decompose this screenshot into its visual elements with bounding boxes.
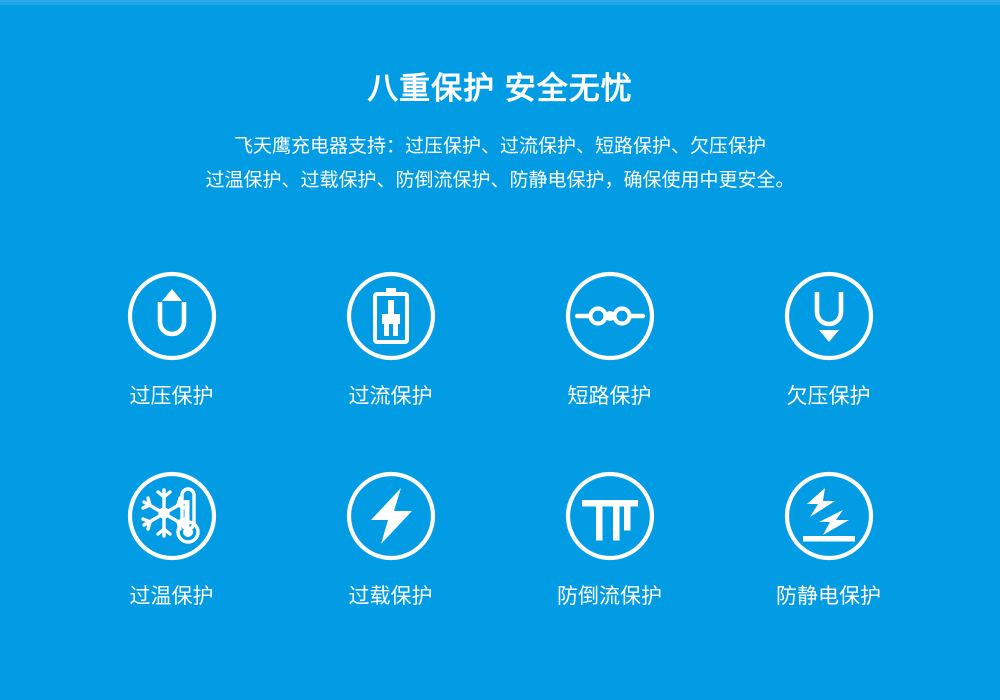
over-temperature-icon	[124, 468, 220, 564]
feature-label: 过载保护	[349, 584, 433, 610]
feature-item-over-temperature: 过温保护	[62, 468, 281, 668]
feature-label: 过流保护	[349, 384, 433, 410]
feature-label: 防倒流保护	[557, 584, 662, 610]
description-line-2: 过温保护、过载保护、防倒流保护、防静电保护，确保使用中更安全。	[0, 164, 1000, 198]
top-edge-highlight	[0, 0, 1000, 2]
feature-label: 过压保护	[130, 384, 214, 410]
feature-item-overload: 过载保护	[281, 468, 500, 668]
reverse-current-icon	[562, 468, 658, 564]
feature-label: 短路保护	[568, 384, 652, 410]
feature-item-overcurrent: 过流保护	[281, 268, 500, 468]
overvoltage-icon	[124, 268, 220, 364]
anti-static-icon	[781, 468, 877, 564]
short-circuit-icon	[562, 268, 658, 364]
feature-item-reverse-current: 防倒流保护	[500, 468, 719, 668]
protection-features-page: 八重保护 安全无忧 飞天鹰充电器支持：过压保护、过流保护、短路保护、欠压保护 过…	[0, 0, 1000, 700]
feature-grid: 过压保护 过流保护	[62, 268, 938, 668]
feature-label: 防静电保护	[776, 584, 881, 610]
feature-label: 欠压保护	[787, 384, 871, 410]
overcurrent-icon	[343, 268, 439, 364]
overload-icon	[343, 468, 439, 564]
feature-item-anti-static: 防静电保护	[719, 468, 938, 668]
feature-label: 过温保护	[130, 584, 214, 610]
feature-item-undervoltage: 欠压保护	[719, 268, 938, 468]
undervoltage-icon	[781, 268, 877, 364]
description-line-1: 飞天鹰充电器支持：过压保护、过流保护、短路保护、欠压保护	[0, 130, 1000, 164]
top-edge-strip	[0, 0, 1000, 5]
feature-item-short-circuit: 短路保护	[500, 268, 719, 468]
page-description: 飞天鹰充电器支持：过压保护、过流保护、短路保护、欠压保护 过温保护、过载保护、防…	[0, 130, 1000, 198]
page-title: 八重保护 安全无忧	[0, 68, 1000, 110]
feature-item-overvoltage: 过压保护	[62, 268, 281, 468]
